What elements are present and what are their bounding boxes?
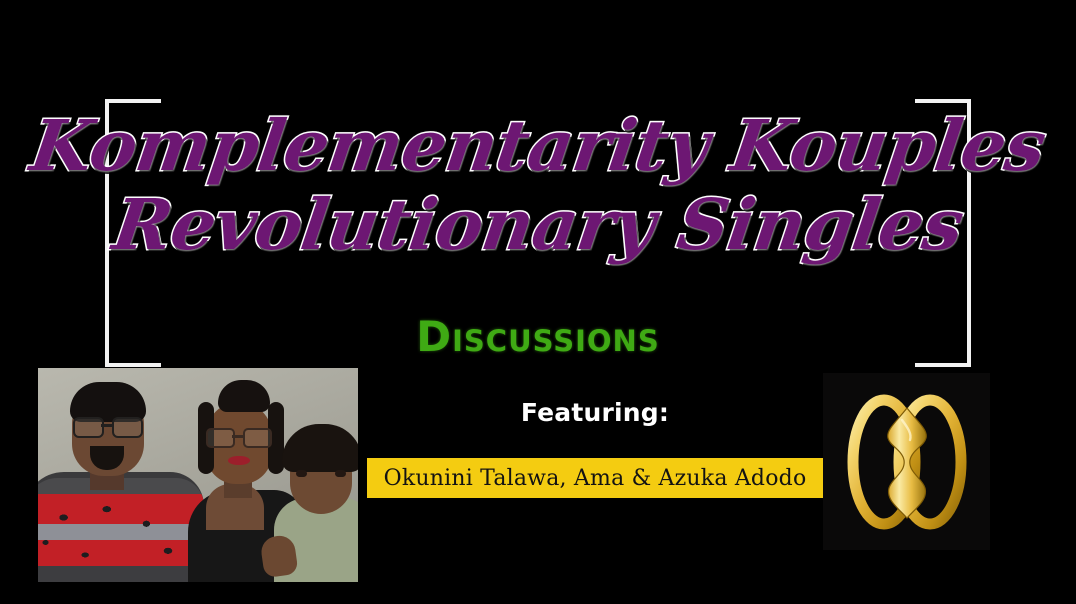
page-title: Komplementarity Kouples Revolutionary Si…: [0, 112, 1076, 259]
guest-name-text: Okunini Talawa, Ama & Azuka Adodo: [384, 466, 807, 491]
woman-eyeglasses: [206, 428, 272, 445]
featuring-label-text: Featuring:: [521, 398, 669, 427]
guest-family-photo: [38, 368, 358, 582]
woman-lips: [228, 456, 250, 465]
man-hair: [70, 382, 146, 422]
title-line-2: Revolutionary Singles: [0, 191, 1076, 260]
subtitle-text: Discussions: [416, 312, 659, 361]
left-corner-bracket: [105, 99, 161, 367]
adinkra-unity-symbol-icon: [842, 386, 972, 538]
video-thumbnail-canvas: Komplementarity Kouples Revolutionary Si…: [0, 0, 1076, 604]
adinkra-emblem-panel: [823, 373, 990, 550]
guest-name-banner: Okunini Talawa, Ama & Azuka Adodo: [367, 458, 823, 498]
featuring-label: Featuring:: [367, 398, 823, 427]
man-eyeglasses: [72, 417, 144, 435]
man-patterned-shirt: [38, 478, 204, 582]
title-line-1: Komplementarity Kouples: [0, 112, 1076, 181]
right-corner-bracket: [915, 99, 971, 367]
subtitle: Discussions: [0, 312, 1076, 361]
toddler-eyes: [296, 470, 346, 478]
